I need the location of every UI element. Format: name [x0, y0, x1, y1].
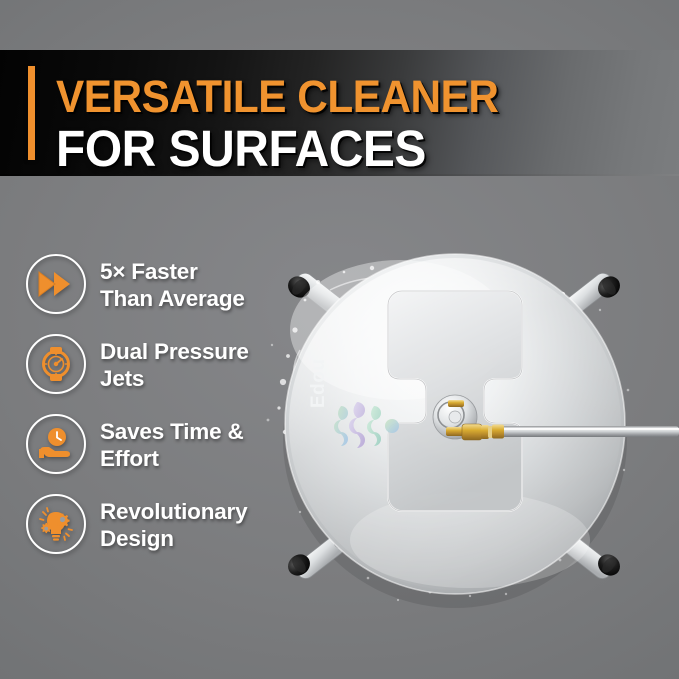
feature-item-dual-pressure: Dual Pressure Jets [26, 334, 296, 394]
water-splash [267, 266, 630, 601]
banner-headline-primary: VERSATILE CLEANER [56, 74, 498, 119]
feature-line1: 5× Faster [100, 259, 198, 284]
feature-label-faster: 5× Faster Than Average [100, 254, 245, 312]
pressure-gauge-icon [26, 334, 86, 394]
feature-item-saves-time: Saves Time & Effort [26, 414, 296, 474]
feature-line1: Dual Pressure [100, 339, 249, 364]
header-banner: VERSATILE CLEANER FOR SURFACES [0, 50, 679, 176]
lightbulb-gears-icon [26, 494, 86, 554]
feature-line1: Revolutionary [100, 499, 247, 524]
caster-wheel-bottom-right [560, 533, 624, 582]
product-marketing-image: Edou VERSA [0, 0, 679, 679]
feature-item-faster: 5× Faster Than Average [26, 254, 296, 314]
feature-line2: Jets [100, 366, 249, 393]
banner-accent-bar [28, 66, 35, 160]
feature-line2: Effort [100, 446, 244, 473]
feature-line1: Saves Time & [100, 419, 244, 444]
fast-forward-icon [26, 254, 86, 314]
feature-item-revolutionary: Revolutionary Design [26, 494, 296, 554]
spray-lance [492, 425, 679, 439]
hand-clock-icon [26, 414, 86, 474]
feature-line2: Than Average [100, 286, 245, 313]
brand-logo-text: Edou [308, 359, 329, 409]
banner-headline-secondary: FOR SURFACES [56, 123, 498, 174]
caster-wheel-top-right [560, 270, 624, 319]
feature-label-revolutionary: Revolutionary Design [100, 494, 247, 552]
feature-label-saves-time: Saves Time & Effort [100, 414, 244, 472]
brand-logo: Edou [308, 359, 399, 449]
center-swivel-fitting [433, 395, 494, 440]
feature-list: 5× Faster Than Average Dual Pressure [26, 254, 296, 574]
feature-line2: Design [100, 526, 247, 553]
center-cover-plate [388, 291, 522, 511]
disc-body [285, 254, 625, 594]
feature-label-dual-pressure: Dual Pressure Jets [100, 334, 249, 392]
banner-text-group: VERSATILE CLEANER FOR SURFACES [56, 54, 527, 174]
